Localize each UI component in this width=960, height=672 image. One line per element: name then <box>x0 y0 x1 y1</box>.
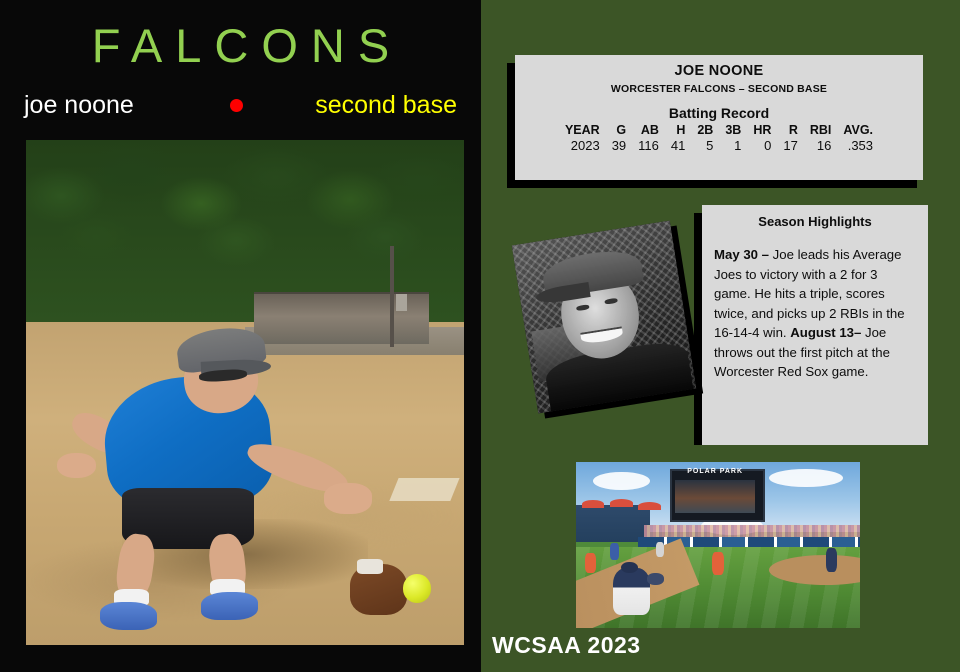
player-position: second base <box>315 90 457 120</box>
col-header-year: YEAR <box>559 122 606 138</box>
highlight-date-1: May 30 – <box>714 247 773 262</box>
main-action-photo <box>26 140 464 645</box>
stadium-player <box>585 553 596 573</box>
col-header-rbi: RBI <box>804 122 838 138</box>
glove-web-patch <box>357 559 383 574</box>
stats-panel: JOE NOONE WORCESTER FALCONS – SECOND BAS… <box>515 55 923 180</box>
highlights-panel: Season Highlights May 30 – Joe leads his… <box>702 205 928 445</box>
player-left-cleat <box>100 602 157 630</box>
cell-rbi: 16 <box>804 138 838 153</box>
portrait-photo <box>512 221 697 414</box>
separator-dot-icon <box>230 99 243 112</box>
photo-light-pole <box>390 246 394 347</box>
stadium-umbrella <box>610 499 633 507</box>
player-name: joe noone <box>24 90 134 120</box>
stadium-umbrella <box>582 500 605 508</box>
stadium-player <box>656 542 665 557</box>
cell-2b: 5 <box>691 138 719 153</box>
player-right-cleat <box>201 592 258 620</box>
cell-avg: .353 <box>837 138 879 153</box>
photo-pole-box <box>396 294 407 311</box>
stadium-photo: POLAR PARK <box>576 462 860 628</box>
left-panel: FALCONS joe noone second base <box>0 0 481 672</box>
col-header-2b: 2B <box>691 122 719 138</box>
player-card: FALCONS joe noone second base <box>0 0 960 672</box>
col-header-g: G <box>606 122 632 138</box>
stats-player-name: JOE NOONE <box>515 63 923 79</box>
player-right-hand <box>324 483 372 513</box>
col-header-avg: AVG. <box>837 122 879 138</box>
table-row: 2023 39 116 41 5 1 0 17 16 .353 <box>559 138 879 153</box>
player-left-hand <box>57 453 96 478</box>
stadium-cloud <box>593 472 650 490</box>
stats-team-position: WORCESTER FALCONS – SECOND BASE <box>515 83 923 95</box>
col-header-ab: AB <box>632 122 665 138</box>
stadium-player <box>610 543 619 560</box>
softball-icon <box>403 574 431 602</box>
batting-record-table: YEAR G AB H 2B 3B HR R RBI AVG. 2023 39 … <box>559 122 879 153</box>
col-header-3b: 3B <box>719 122 747 138</box>
col-header-h: H <box>665 122 691 138</box>
cell-h: 41 <box>665 138 691 153</box>
table-header-row: YEAR G AB H 2B 3B HR R RBI AVG. <box>559 122 879 138</box>
col-header-r: R <box>777 122 803 138</box>
col-header-hr: HR <box>747 122 777 138</box>
cell-g: 39 <box>606 138 632 153</box>
scoreboard-label: POLAR PARK <box>670 468 761 475</box>
photo-base <box>389 478 459 501</box>
footer-label: WCSAA 2023 <box>492 632 641 659</box>
cell-hr: 0 <box>747 138 777 153</box>
team-title: FALCONS <box>0 22 481 69</box>
stadium-player <box>712 552 723 575</box>
player-header-line: joe noone second base <box>0 90 481 120</box>
cell-year: 2023 <box>559 138 606 153</box>
highlights-body: May 30 – Joe leads his Average Joes to v… <box>714 245 916 382</box>
stadium-cloud <box>769 469 843 487</box>
cell-r: 17 <box>777 138 803 153</box>
cell-3b: 1 <box>719 138 747 153</box>
stadium-player <box>826 548 837 571</box>
stadium-catcher <box>613 568 650 614</box>
highlights-title: Season Highlights <box>702 214 928 229</box>
cell-ab: 116 <box>632 138 665 153</box>
scoreboard-screen <box>675 480 755 513</box>
highlight-date-2: August 13– <box>790 325 865 340</box>
stadium-catcher-glove-icon <box>647 573 664 585</box>
stats-table-caption: Batting Record <box>515 105 923 121</box>
stadium-umbrella <box>638 502 661 510</box>
